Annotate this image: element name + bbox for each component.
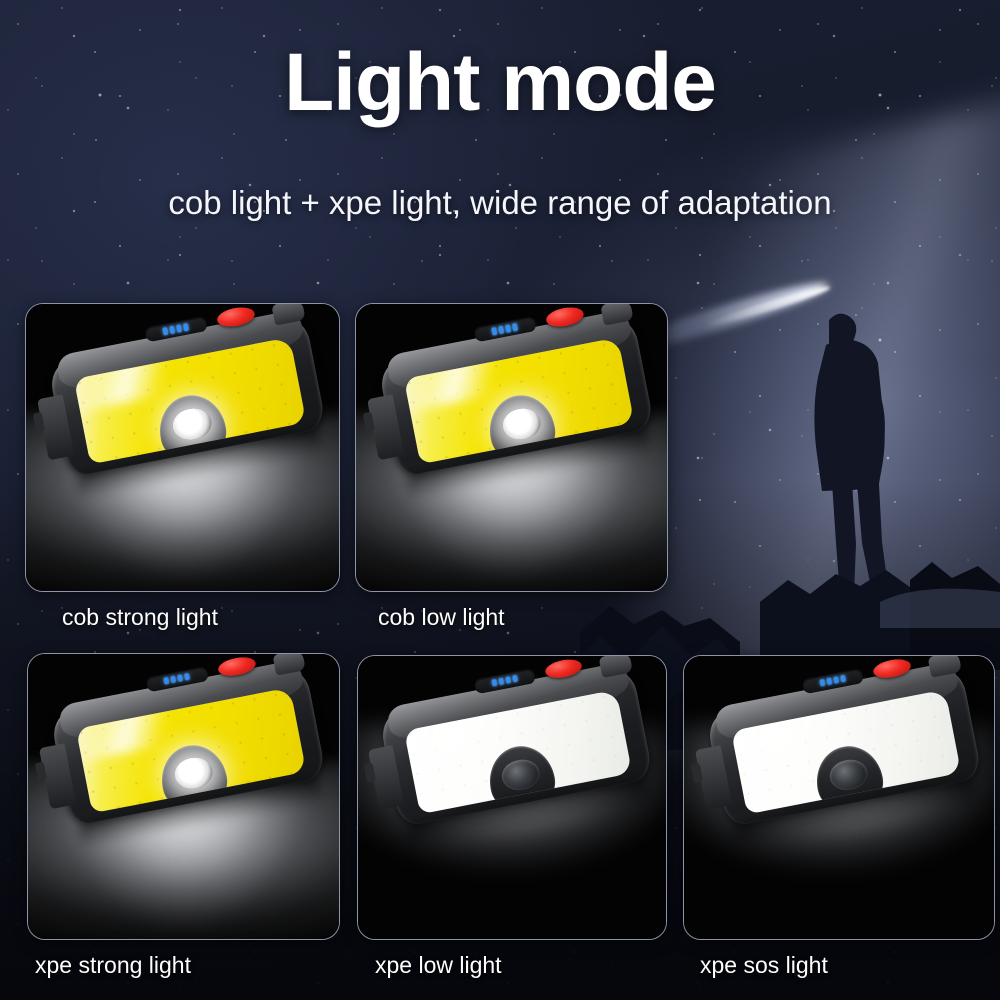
battery-led	[499, 678, 504, 685]
card-photo	[356, 304, 667, 591]
battery-led	[505, 325, 510, 332]
page-subtitle: cob light + xpe light, wide range of ada…	[0, 186, 1000, 219]
battery-led	[163, 328, 168, 335]
battery-led	[499, 327, 504, 334]
battery-led	[513, 676, 518, 683]
page-title: Light mode	[0, 42, 1000, 124]
headlamp-right-cap	[599, 656, 633, 678]
battery-led	[492, 328, 497, 335]
card-photo	[26, 304, 339, 591]
card-label-cob-low-light: cob low light	[378, 604, 505, 631]
battery-led	[170, 327, 175, 334]
xpe-led-icon	[500, 756, 543, 793]
battery-led	[819, 680, 824, 687]
battery-led	[492, 680, 497, 687]
card-label-xpe-sos-light: xpe sos light	[700, 952, 828, 979]
light-mode-card-xpe-sos-light[interactable]	[683, 655, 995, 940]
light-mode-infographic: Light mode cob light + xpe light, wide r…	[0, 0, 1000, 1000]
xpe-led-icon	[499, 406, 542, 444]
card-photo	[28, 654, 339, 939]
battery-led	[164, 678, 169, 685]
light-mode-card-xpe-low-light[interactable]	[357, 655, 667, 940]
light-mode-card-cob-low-light[interactable]	[355, 303, 668, 592]
xpe-led-icon	[170, 406, 213, 444]
light-mode-card-xpe-strong-light[interactable]	[27, 653, 340, 940]
card-label-cob-strong-light: cob strong light	[62, 604, 218, 631]
card-photo	[684, 656, 994, 939]
battery-led	[178, 675, 183, 682]
battery-led	[171, 677, 176, 684]
card-label-xpe-low-light: xpe low light	[375, 952, 502, 979]
xpe-led-icon	[171, 755, 214, 793]
card-photo	[358, 656, 666, 939]
battery-led	[183, 324, 188, 331]
battery-led	[826, 678, 831, 685]
card-label-xpe-strong-light: xpe strong light	[35, 952, 191, 979]
light-mode-card-cob-strong-light[interactable]	[25, 303, 340, 592]
battery-led	[184, 674, 189, 681]
battery-led	[512, 324, 517, 331]
battery-led	[176, 325, 181, 332]
battery-led	[840, 676, 845, 683]
battery-led	[833, 677, 838, 684]
xpe-led-icon	[827, 756, 870, 793]
battery-led	[506, 677, 511, 684]
